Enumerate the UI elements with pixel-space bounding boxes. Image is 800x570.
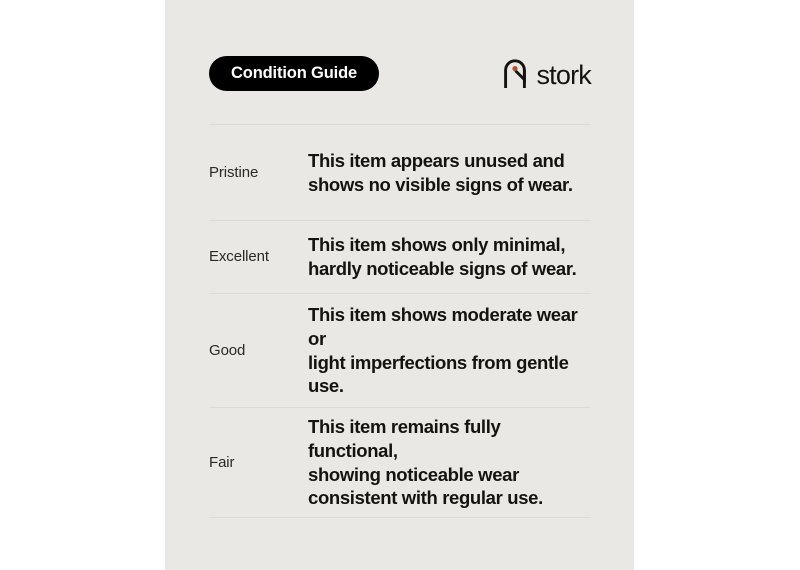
- table-row: Pristine This item appears unused and sh…: [209, 125, 591, 220]
- condition-description: This item shows only minimal, hardly not…: [308, 233, 591, 281]
- condition-description: This item appears unused and shows no vi…: [308, 149, 591, 197]
- condition-label: Pristine: [209, 164, 308, 182]
- brand-wordmark: stork: [536, 62, 591, 89]
- description-line: This item appears unused and: [308, 149, 591, 173]
- brand-lockup: stork: [503, 58, 591, 90]
- description-line: hardly noticeable signs of wear.: [308, 257, 591, 281]
- description-line: use.: [308, 374, 591, 398]
- table-row: Excellent This item shows only minimal, …: [209, 221, 591, 293]
- description-line: showing noticeable wear: [308, 463, 591, 487]
- description-line: This item remains fully functional,: [308, 415, 591, 463]
- condition-guide-pill: Condition Guide: [209, 56, 379, 91]
- description-line: shows no visible signs of wear.: [308, 173, 591, 197]
- condition-description: This item remains fully functional, show…: [308, 415, 591, 510]
- description-line: consistent with regular use.: [308, 486, 591, 510]
- table-row: Fair This item remains fully functional,…: [209, 408, 591, 517]
- card-header: Condition Guide stork: [209, 56, 591, 92]
- condition-guide-card: Condition Guide stork Pristine This ite: [165, 0, 634, 570]
- condition-description: This item shows moderate wear or light i…: [308, 303, 591, 398]
- condition-label: Good: [209, 342, 308, 360]
- condition-guide-table: Pristine This item appears unused and sh…: [209, 124, 591, 518]
- page-root: Condition Guide stork Pristine This ite: [0, 0, 800, 570]
- stork-arch-mark-icon: [503, 59, 527, 89]
- description-line: light imperfections from gentle: [308, 351, 591, 375]
- condition-label: Fair: [209, 454, 308, 472]
- description-line: This item shows only minimal,: [308, 233, 591, 257]
- table-divider-bottom: [209, 517, 591, 518]
- description-line: This item shows moderate wear or: [308, 303, 591, 351]
- table-row: Good This item shows moderate wear or li…: [209, 294, 591, 407]
- condition-label: Excellent: [209, 248, 308, 266]
